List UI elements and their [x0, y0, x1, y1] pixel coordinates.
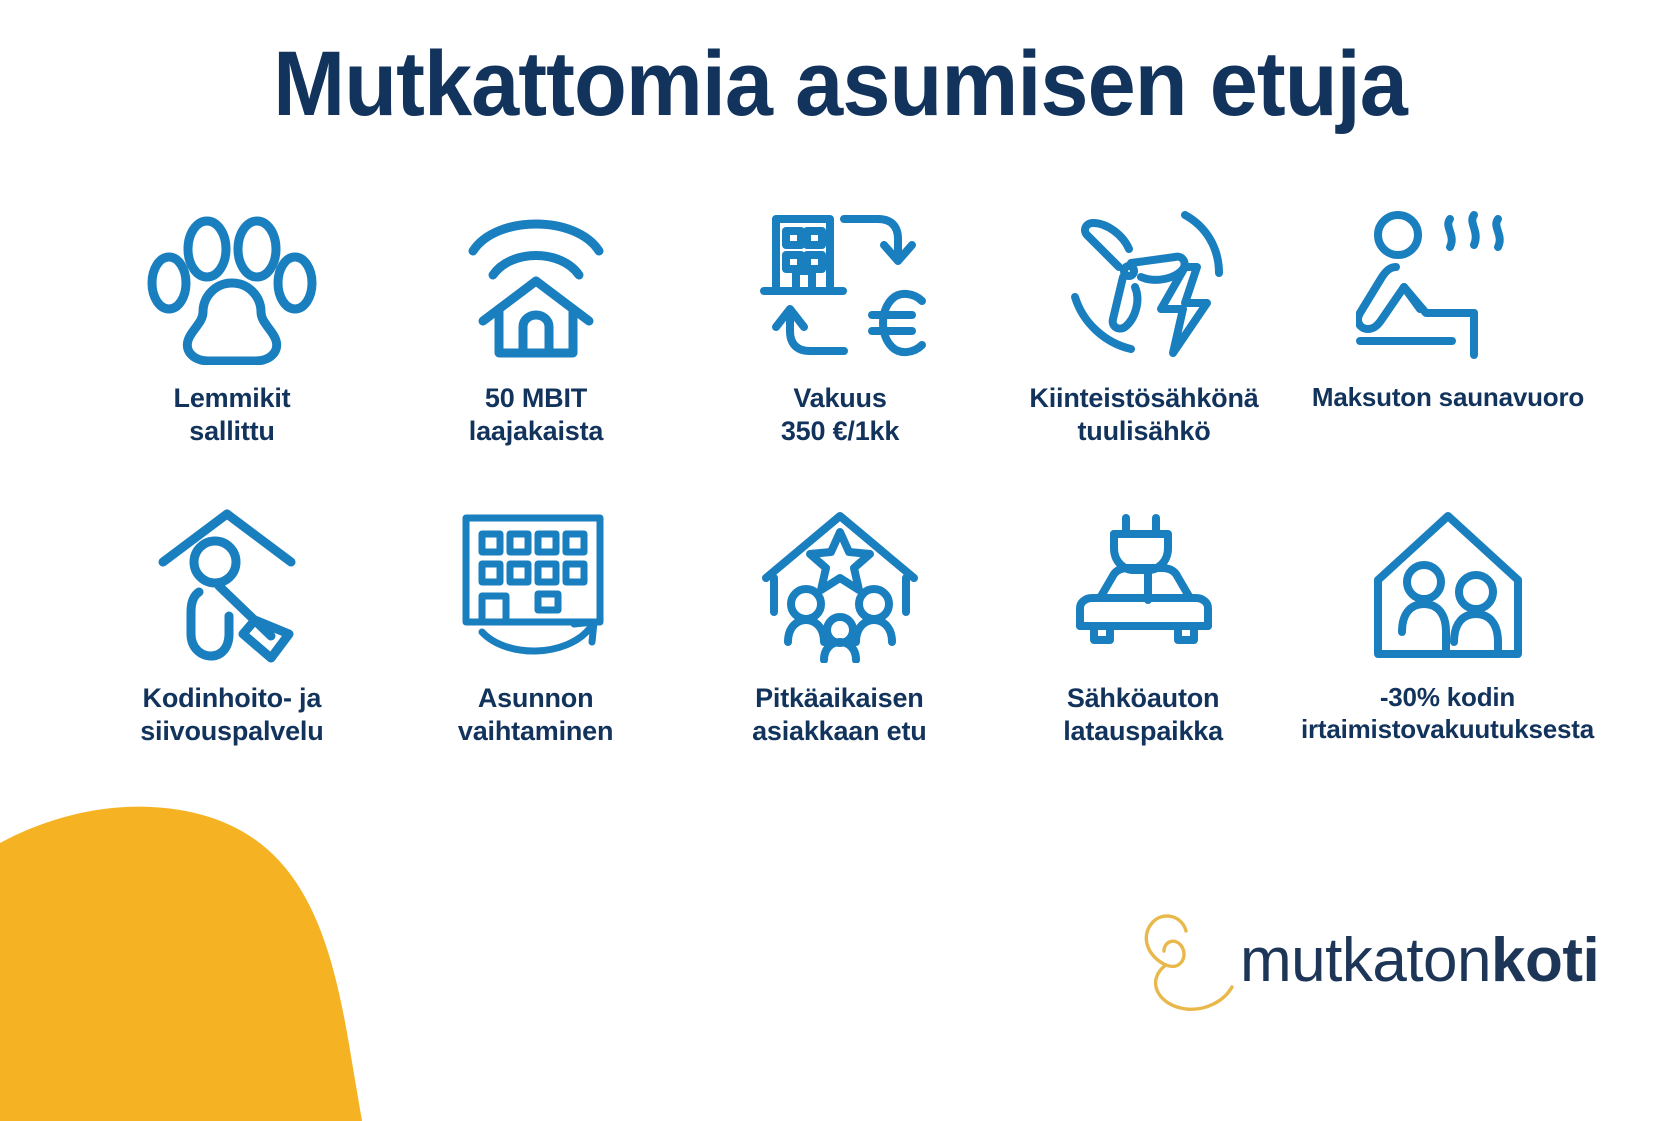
benefits-row-2: Kodinhoito- ja siivouspalvelu: [80, 496, 1600, 796]
benefit-label: 50 MBIT laajakaista: [469, 382, 603, 448]
ev-charging-car-icon: [1056, 496, 1231, 674]
page-title: Mutkattomia asumisen etuja: [50, 38, 1629, 130]
benefits-row-1: Lemmikit sallittu 50 MBIT laajakaista: [80, 196, 1600, 496]
benefit-label: -30% kodin irtaimistovakuutuksesta: [1301, 682, 1594, 745]
cleaning-person-icon: [147, 496, 317, 674]
benefit-item-wind-electricity[interactable]: Kiinteistösähkönä tuulisähkö: [992, 196, 1296, 496]
benefit-label: Maksuton saunavuoro: [1312, 382, 1584, 414]
benefit-item-sauna[interactable]: Maksuton saunavuoro: [1296, 196, 1600, 496]
logo-name-bold: koti: [1491, 926, 1599, 995]
benefit-item-apartment-swap[interactable]: Asunnon vaihtaminen: [384, 496, 688, 796]
heart-swoosh-icon: [1128, 905, 1236, 1017]
benefit-item-insurance-discount[interactable]: -30% kodin irtaimistovakuutuksesta: [1295, 496, 1600, 796]
benefit-item-ev-charging[interactable]: Sähköauton latauspaikka: [991, 496, 1295, 796]
brand-logo[interactable]: mutkatonkoti: [1128, 905, 1599, 1017]
apartment-swap-icon: [448, 496, 623, 674]
sauna-person-icon: [1356, 196, 1541, 374]
benefit-item-cleaning[interactable]: Kodinhoito- ja siivouspalvelu: [80, 496, 384, 796]
benefit-label: Lemmikit sallittu: [174, 382, 291, 448]
benefit-label: Sähköauton latauspaikka: [1063, 682, 1223, 748]
infographic-page: Mutkattomia asumisen etuja Lemmikit sall…: [0, 0, 1680, 1121]
benefits-grid: Lemmikit sallittu 50 MBIT laajakaista: [80, 196, 1600, 796]
benefit-item-deposit[interactable]: Vakuus 350 €/1kk: [688, 196, 992, 496]
house-people-icon: [1360, 496, 1535, 674]
benefit-item-broadband[interactable]: 50 MBIT laajakaista: [384, 196, 688, 496]
wifi-house-icon: [451, 196, 621, 374]
benefit-label: Asunnon vaihtaminen: [458, 682, 613, 748]
benefit-label: Kodinhoito- ja siivouspalvelu: [140, 682, 323, 748]
benefit-label: Kiinteistösähkönä tuulisähkö: [1029, 382, 1258, 448]
yellow-blob-decoration: [0, 800, 580, 1121]
paw-print-icon: [147, 196, 317, 374]
benefit-item-pets[interactable]: Lemmikit sallittu: [80, 196, 384, 496]
wind-turbine-bolt-icon: [1057, 196, 1232, 374]
logo-name-light: mutkaton: [1240, 926, 1491, 995]
logo-wordmark: mutkatonkoti: [1240, 930, 1599, 992]
benefit-label: Pitkäaikaisen asiakkaan etu: [752, 682, 927, 748]
benefit-label: Vakuus 350 €/1kk: [781, 382, 899, 448]
family-star-house-icon: [752, 496, 927, 674]
building-euro-icon: [748, 196, 933, 374]
benefit-item-loyalty[interactable]: Pitkäaikaisen asiakkaan etu: [687, 496, 991, 796]
